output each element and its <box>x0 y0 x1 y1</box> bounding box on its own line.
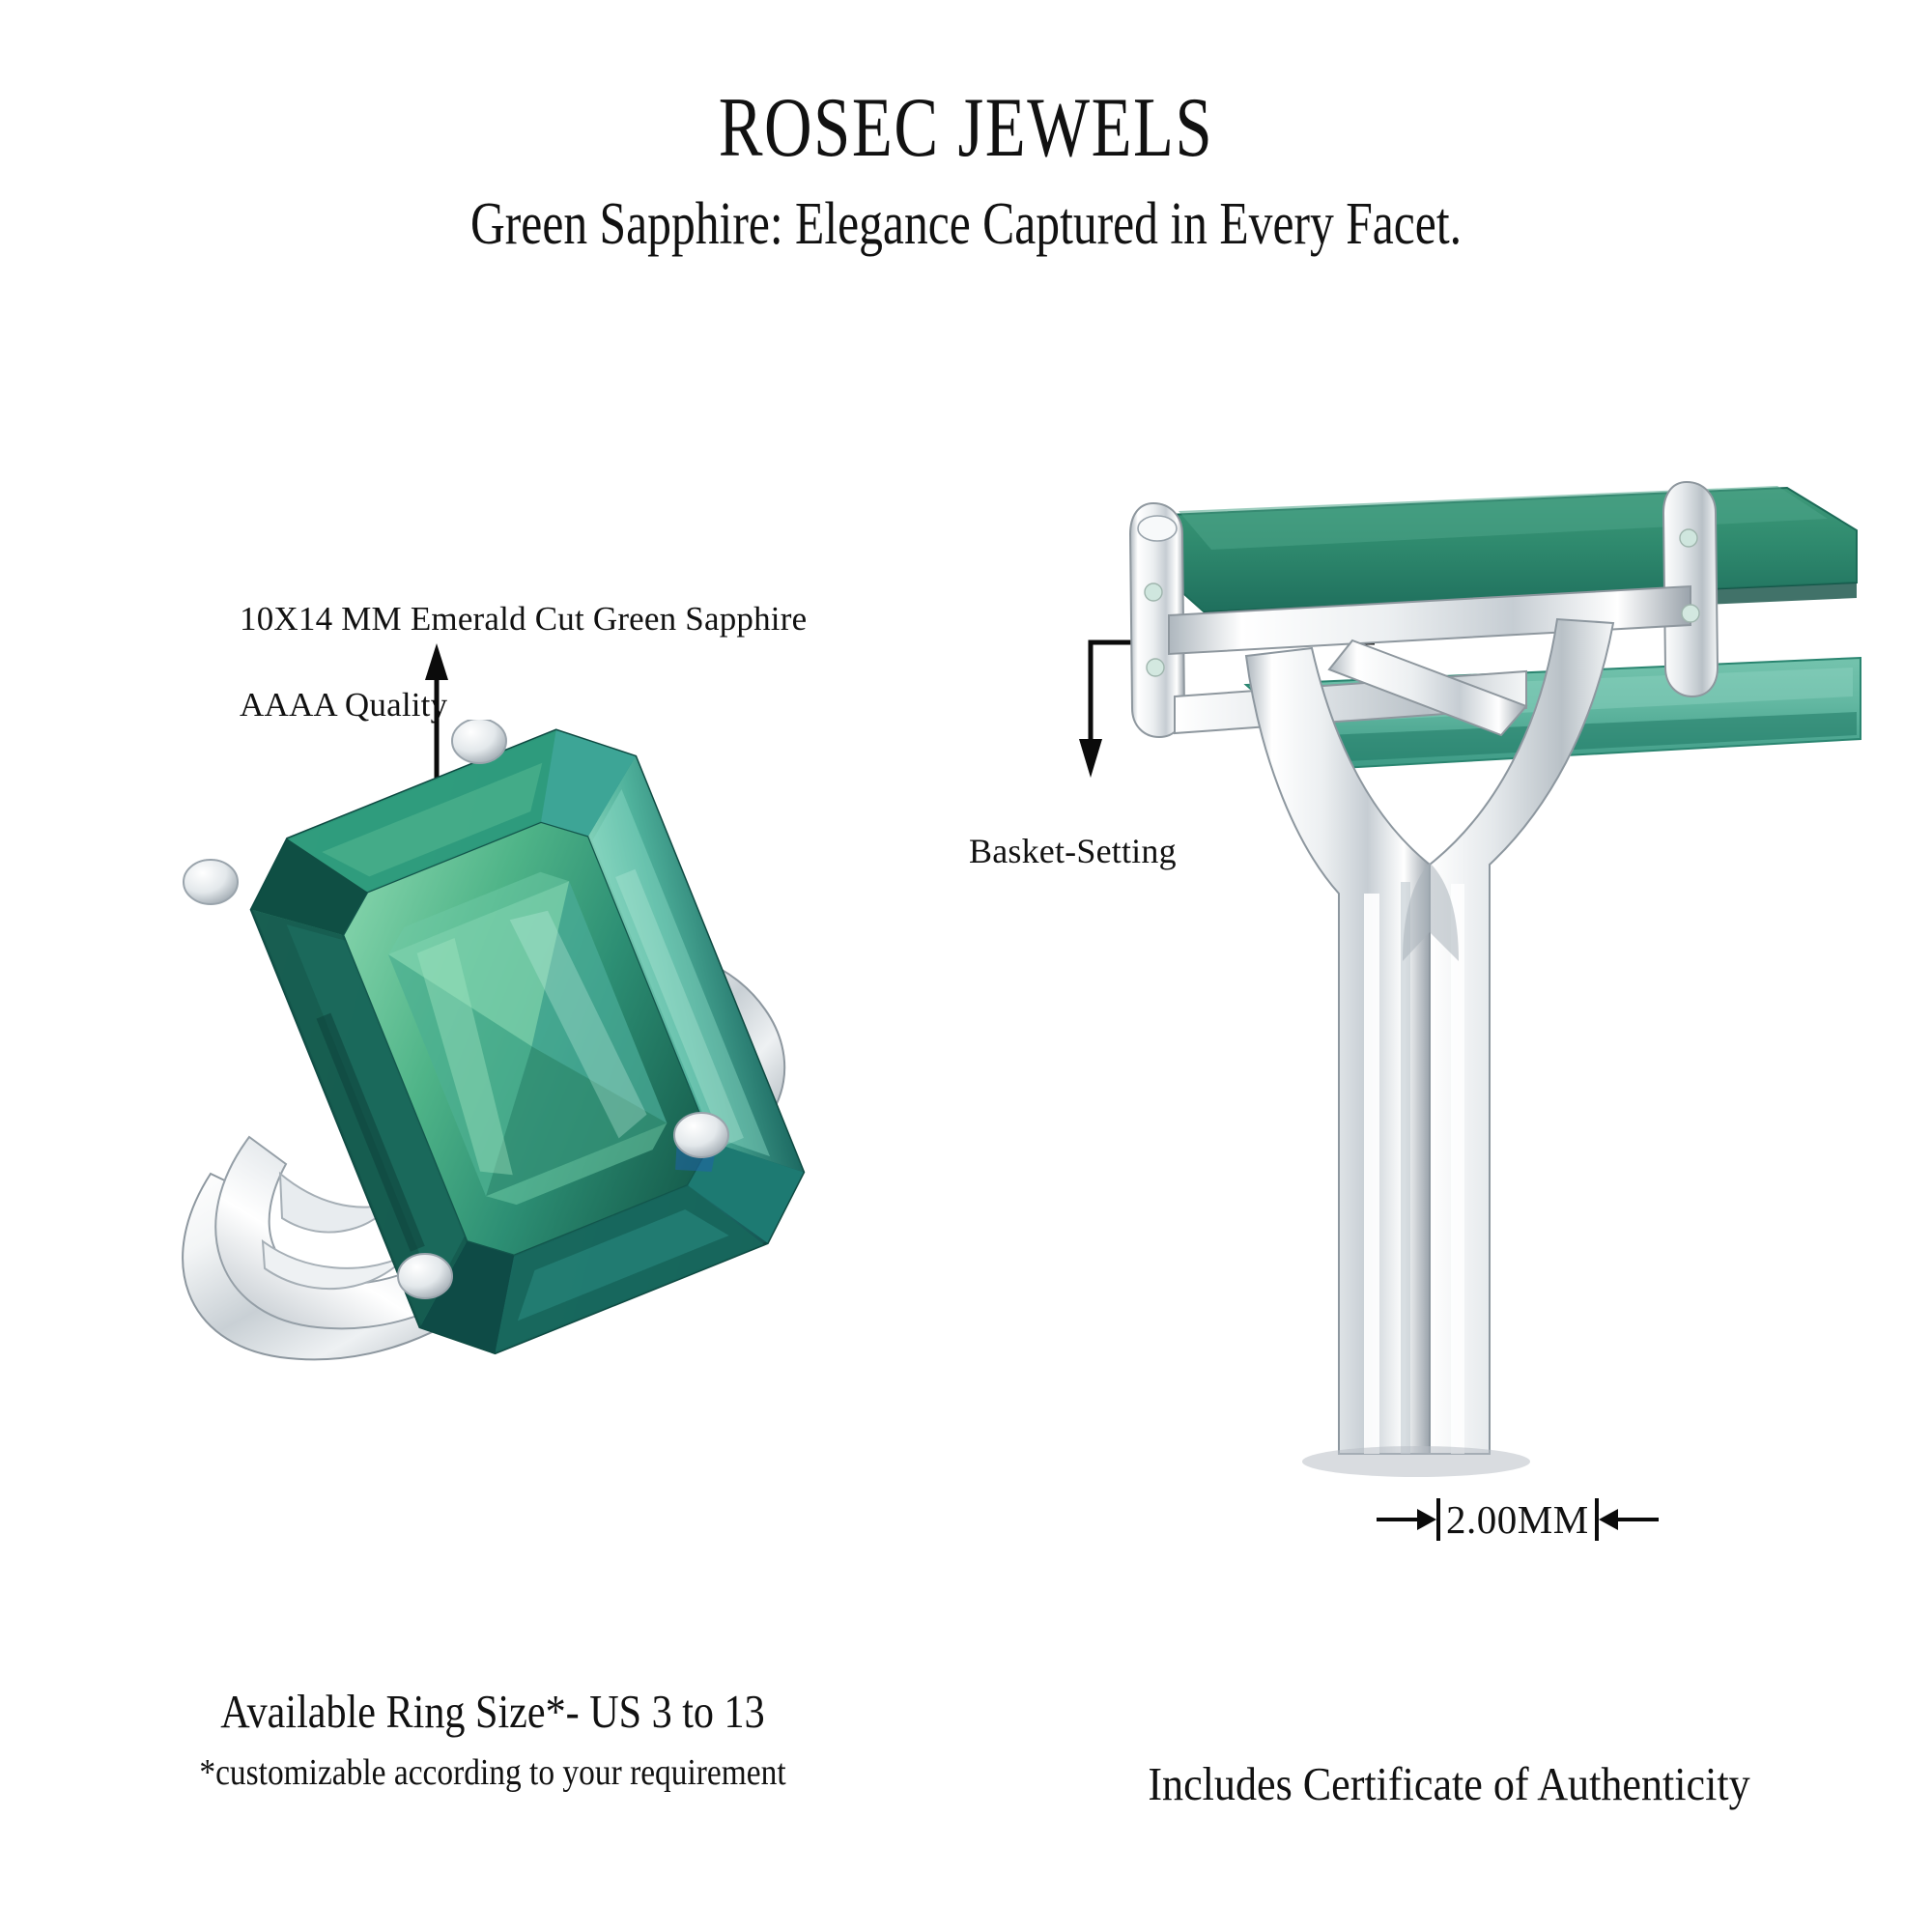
prong-bottom-left <box>398 1254 452 1298</box>
drop-shadow <box>1302 1446 1530 1477</box>
accent-stone <box>1680 529 1697 547</box>
accent-stone <box>1145 583 1162 601</box>
brand-title: ROSEC JEWELS <box>213 85 1719 172</box>
dimension-value: 2.00MM <box>1440 1500 1595 1540</box>
arrow-right-icon <box>1377 1509 1436 1530</box>
ring-front-view <box>135 720 947 1386</box>
ring-size-note: *customizable according to your requirem… <box>110 1752 875 1794</box>
accent-stone <box>1682 605 1699 622</box>
ring-size-block: Available Ring Size*- US 3 to 13 *custom… <box>58 1686 927 1793</box>
certificate-block: Includes Certificate of Authenticity <box>985 1758 1913 1811</box>
infographic-canvas: ROSEC JEWELS Green Sapphire: Elegance Ca… <box>0 0 1932 1932</box>
brand-tagline: Green Sapphire: Elegance Captured in Eve… <box>193 193 1739 256</box>
prong-top-right <box>452 720 506 763</box>
accent-stone <box>1147 659 1164 676</box>
ring-front-view-illustration <box>135 720 947 1386</box>
dimension-callout: 2.00MM <box>1377 1492 1659 1547</box>
ring-side-profile-view <box>1111 478 1884 1502</box>
prong-bottom-right <box>674 1113 728 1157</box>
ring-side-profile-illustration <box>1111 478 1884 1502</box>
prong-top-left <box>184 860 238 904</box>
arrow-left-icon <box>1599 1509 1659 1530</box>
certificate-line: Includes Certificate of Authenticity <box>1032 1758 1866 1811</box>
ring-size-line: Available Ring Size*- US 3 to 13 <box>119 1686 867 1739</box>
gemstone-annotation-line1: 10X14 MM Emerald Cut Green Sapphire <box>240 598 807 641</box>
header-block: ROSEC JEWELS Green Sapphire: Elegance Ca… <box>0 85 1932 256</box>
